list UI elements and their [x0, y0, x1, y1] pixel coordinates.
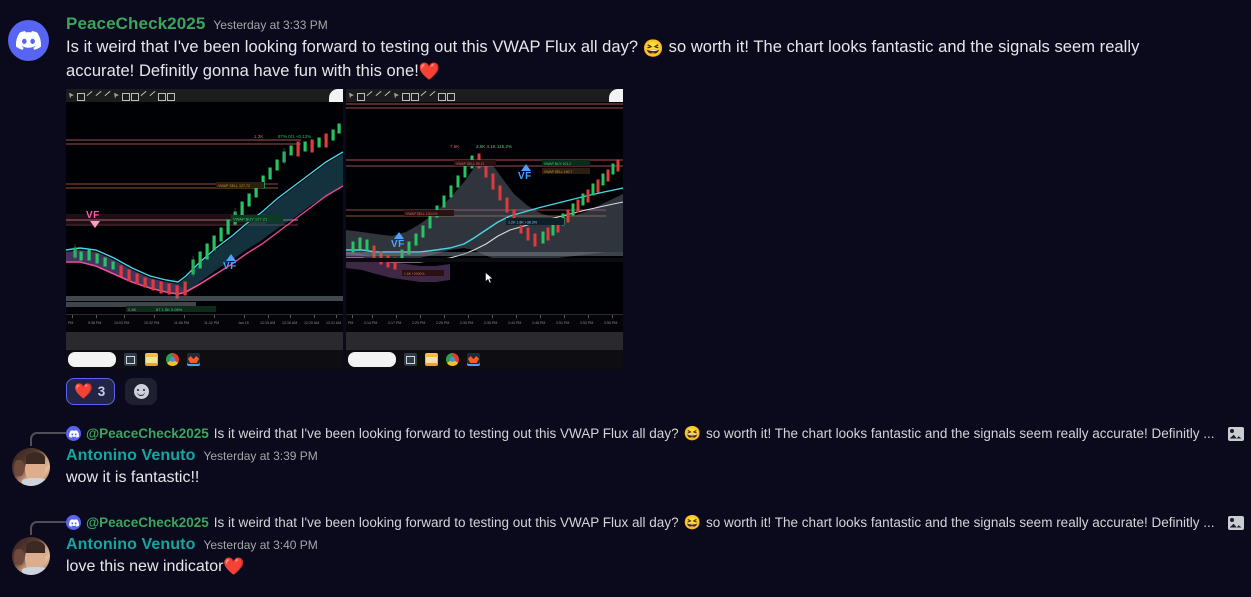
measure-tool-icon[interactable]: [149, 92, 156, 100]
measure-tool-icon-2[interactable]: [429, 92, 436, 100]
fib-tool-icon[interactable]: [140, 92, 147, 100]
reply-reference-2[interactable]: @PeaceCheck2025 Is it weird that I've be…: [66, 514, 1244, 531]
trendline-tool-icon[interactable]: [86, 92, 93, 100]
discord-logo-icon-reply-2: [66, 515, 81, 530]
windows-taskbar-1[interactable]: [66, 350, 343, 369]
reply-author-2[interactable]: Antonino Venuto: [66, 537, 195, 553]
chart-x-axis-1: PM 9:38 PM 10:03 PM 10:32 PM 11:06 PM 11…: [66, 314, 343, 332]
avatar-peacecheck2025[interactable]: [8, 20, 49, 61]
reply-heart-emoji-2: ❤️: [223, 557, 244, 576]
chart-screenshot-2[interactable]: 7.6K 2.5K 4.1K 115.2% VWAP SELL 99.21 VW…: [346, 89, 623, 369]
reply-mention-2[interactable]: @PeaceCheck2025: [86, 515, 209, 530]
chart-canvas-2[interactable]: 7.6K 2.5K 4.1K 115.2% VWAP SELL 99.21 VW…: [346, 102, 623, 314]
shape-tool-icon-2[interactable]: [402, 92, 409, 100]
reply-snippet-tail-1: so worth it! The chart looks fantastic a…: [706, 426, 1215, 441]
discord-logo-icon: [16, 28, 41, 53]
fib-tool-icon-2[interactable]: [420, 92, 427, 100]
image-attachment-icon-1: [1228, 427, 1244, 441]
heart-reaction[interactable]: ❤️ 3: [66, 378, 115, 405]
svg-text:VWAP SELL 100.7: VWAP SELL 100.7: [544, 170, 572, 174]
chart-graphic-1: 1.3K 87% 0/1 +0.12% VWAP BUY 127.21 VWAP…: [66, 102, 343, 314]
reply-mention-1[interactable]: @PeaceCheck2025: [86, 426, 209, 441]
windows-taskbar-2[interactable]: [346, 350, 623, 369]
chart-screenshot-1[interactable]: 1.3K 87% 0/1 +0.12% VWAP BUY 127.21 VWAP…: [66, 89, 343, 369]
message-text-part1: Is it weird that I've been looking forwa…: [66, 38, 638, 56]
vf-sell-signal-1: VF: [86, 210, 100, 228]
vf-buy-triangle-icon-2a: [521, 164, 531, 171]
task-view-icon-2[interactable]: [404, 353, 417, 366]
svg-text:87 1.5K 0.06%: 87 1.5K 0.06%: [156, 307, 183, 312]
vf-sell-triangle-icon-1: [90, 221, 100, 228]
chart-canvas-1[interactable]: 1.3K 87% 0/1 +0.12% VWAP BUY 127.21 VWAP…: [66, 102, 343, 314]
reply-snippet-emoji-1: 😆: [684, 425, 701, 442]
svg-text:VWAP SELL 100.0%: VWAP SELL 100.0%: [406, 212, 437, 216]
reply-reference-1[interactable]: @PeaceCheck2025 Is it weird that I've be…: [66, 425, 1244, 442]
arrow-tool-icon-2[interactable]: [384, 92, 391, 100]
chrome-icon-2[interactable]: [446, 353, 459, 366]
crosshair-tool-icon-2[interactable]: [357, 92, 364, 100]
svg-text:1 6K +2000%: 1 6K +2000%: [404, 272, 424, 276]
reply-timestamp-1: Yesterday at 3:39 PM: [203, 450, 317, 462]
brush-tool-icon-2[interactable]: [393, 92, 400, 100]
reply-timestamp-2: Yesterday at 3:40 PM: [203, 539, 317, 551]
message-reactions: ❤️ 3: [66, 378, 1251, 405]
vf-buy-signal-2b: VF: [391, 232, 405, 250]
image-attachment-icon-2: [1228, 516, 1244, 530]
message-content: Is it weird that I've been looking forwa…: [66, 36, 1206, 83]
arrow-tool-icon[interactable]: [104, 92, 111, 100]
reply-content-wrap-1: Antonino Venuto Yesterday at 3:39 PM wow…: [0, 448, 1251, 489]
reply-body-2: Antonino Venuto Yesterday at 3:40 PM lov…: [66, 537, 1251, 578]
message-body: PeaceCheck2025 Yesterday at 3:33 PM Is i…: [66, 15, 1251, 369]
list-tool-icon-2[interactable]: [447, 92, 454, 100]
discord-message-view: PeaceCheck2025 Yesterday at 3:33 PM Is i…: [0, 0, 1251, 597]
reply-header-1: Antonino Venuto Yesterday at 3:39 PM: [66, 448, 1251, 464]
avatar-antonino-venuto-2[interactable]: [12, 537, 50, 575]
heart-reaction-count: 3: [98, 384, 106, 399]
chart-toolbar-2[interactable]: [346, 89, 623, 102]
vf-buy-label-2a: VF: [518, 171, 532, 182]
reply-connector-2: [30, 521, 66, 535]
reply-text-1: wow it is fantastic!!: [66, 467, 1251, 489]
trendline-tool-icon-2[interactable]: [366, 92, 373, 100]
svg-text:VWAP SELL 99.21: VWAP SELL 99.21: [456, 162, 484, 166]
svg-text:2.5K 4.1K 115.2%: 2.5K 4.1K 115.2%: [476, 144, 512, 149]
svg-text:7.6K: 7.6K: [450, 144, 459, 149]
vf-buy-signal-2a: VF: [518, 164, 532, 182]
text-tool-icon[interactable]: [158, 92, 165, 100]
ray-tool-icon-2[interactable]: [375, 92, 382, 100]
reply-snippet-emoji-2: 😆: [684, 514, 701, 531]
add-reaction-smiley-icon: [134, 384, 149, 399]
reply-snippet-tail-2: so worth it! The chart looks fantastic a…: [706, 515, 1215, 530]
reply-content-wrap-2: Antonino Venuto Yesterday at 3:40 PM lov…: [0, 537, 1251, 578]
cursor-tool-icon[interactable]: [68, 92, 75, 100]
taskbar-search-box-1[interactable]: [68, 352, 116, 367]
file-explorer-icon-2[interactable]: [425, 353, 438, 366]
reply-snippet-2: Is it weird that I've been looking forwa…: [214, 515, 679, 530]
message-author[interactable]: PeaceCheck2025: [66, 15, 205, 32]
vf-buy-triangle-icon-2b: [394, 232, 404, 239]
svg-text:1.2K 1.8K +38.3%: 1.2K 1.8K +38.3%: [508, 221, 538, 225]
brush-tool-icon[interactable]: [113, 92, 120, 100]
heart-emoji: ❤️: [419, 62, 440, 81]
list-tool-icon[interactable]: [167, 92, 174, 100]
task-view-icon-1[interactable]: [124, 353, 137, 366]
svg-text:87% 0/1 +0.12%: 87% 0/1 +0.12%: [278, 134, 311, 139]
trading-app-icon-2[interactable]: [467, 353, 480, 366]
heart-reaction-emoji: ❤️: [74, 384, 93, 399]
svg-text:2.4K: 2.4K: [128, 307, 137, 312]
vf-buy-triangle-icon-1: [226, 254, 236, 261]
svg-text:VWAP BUY 127.21: VWAP BUY 127.21: [233, 217, 268, 222]
file-explorer-icon-1[interactable]: [145, 353, 158, 366]
pattern-tool-icon-2[interactable]: [411, 92, 418, 100]
taskbar-search-box-2[interactable]: [348, 352, 396, 367]
chart-graphic-2: 7.6K 2.5K 4.1K 115.2% VWAP SELL 99.21 VW…: [346, 102, 623, 314]
avatar-antonino-venuto-1[interactable]: [12, 448, 50, 486]
laughing-emoji: 😆: [643, 39, 664, 58]
reply-header-2: Antonino Venuto Yesterday at 3:40 PM: [66, 537, 1251, 553]
svg-text:VWAP BUY 101.2: VWAP BUY 101.2: [544, 162, 571, 166]
reply-text-2: love this new indicator❤️: [66, 556, 1251, 578]
message-header: PeaceCheck2025 Yesterday at 3:33 PM: [66, 15, 1251, 32]
crosshair-tool-icon[interactable]: [77, 92, 84, 100]
text-tool-icon-2[interactable]: [438, 92, 445, 100]
cursor-tool-icon-2[interactable]: [348, 92, 355, 100]
shape-tool-icon[interactable]: [122, 92, 129, 100]
pattern-tool-icon[interactable]: [131, 92, 138, 100]
message-attachments: 1.3K 87% 0/1 +0.12% VWAP BUY 127.21 VWAP…: [66, 89, 1251, 369]
reply-body-1: Antonino Venuto Yesterday at 3:39 PM wow…: [66, 448, 1251, 489]
vf-sell-label-1: VF: [86, 210, 100, 221]
vf-buy-label-2b: VF: [391, 239, 405, 250]
ray-tool-icon[interactable]: [95, 92, 102, 100]
vf-buy-signal-1: VF: [223, 254, 237, 272]
vf-buy-label-1: VF: [223, 261, 237, 272]
reply-connector-1: [30, 432, 66, 446]
add-reaction-button[interactable]: [125, 378, 157, 405]
message-main: PeaceCheck2025 Yesterday at 3:33 PM Is i…: [0, 15, 1251, 405]
svg-text:1.3K: 1.3K: [254, 134, 263, 139]
reply-text-label-2: love this new indicator: [66, 558, 223, 575]
reply-snippet-1: Is it weird that I've been looking forwa…: [214, 426, 679, 441]
message-timestamp: Yesterday at 3:33 PM: [213, 19, 327, 31]
reply-author-1[interactable]: Antonino Venuto: [66, 448, 195, 464]
chart-toolbar-1[interactable]: [66, 89, 343, 102]
trading-app-icon-1[interactable]: [187, 353, 200, 366]
chart-x-axis-2: PM 2:14 PM 2:17 PM 2:20 PM 2:26 PM 2:30 …: [346, 314, 623, 332]
chrome-icon-1[interactable]: [166, 353, 179, 366]
discord-logo-icon-reply-1: [66, 426, 81, 441]
svg-text:VWAP SELL 127.72: VWAP SELL 127.72: [218, 184, 250, 188]
